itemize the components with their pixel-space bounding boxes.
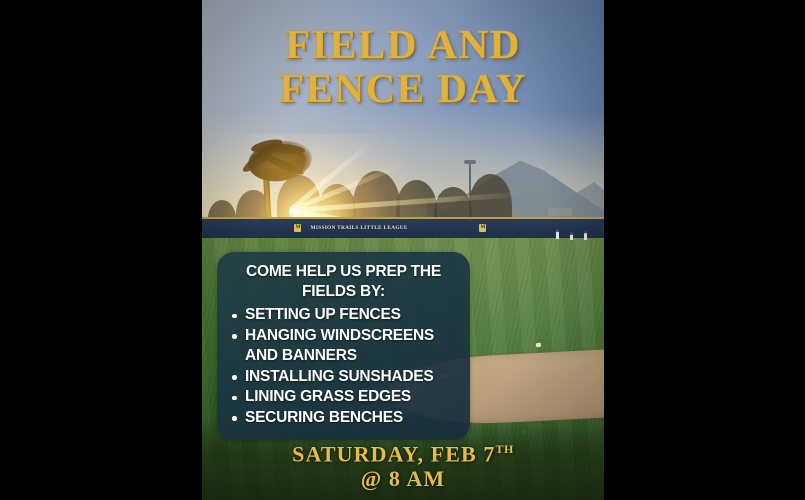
- poster-title: FIELD AND FENCE DAY: [202, 22, 604, 110]
- little-league-logo-right: M: [479, 224, 486, 232]
- info-card-heading-line-2: FIELDS BY:: [227, 282, 460, 302]
- event-time-line: @ 8 AM: [202, 466, 604, 491]
- base-bag: [535, 342, 541, 347]
- player-figure: [584, 233, 587, 240]
- event-date-line-1: SATURDAY, FEB 7TH: [202, 437, 604, 466]
- outfield-fence: M MISSION TRAILS LITTLE LEAGUE M: [202, 217, 604, 239]
- palm-frond: [261, 152, 305, 178]
- title-line-2: FENCE DAY: [202, 66, 604, 110]
- list-item: LINING GRASS EDGES: [227, 387, 460, 408]
- list-item: INSTALLING SUNSHADES: [227, 367, 460, 388]
- screenshot-stage: M MISSION TRAILS LITTLE LEAGUE M FIELD A…: [0, 0, 805, 500]
- info-card: COME HELP US PREP THE FIELDS BY: SETTING…: [217, 252, 470, 440]
- far-building: [548, 208, 572, 216]
- task-list: SETTING UP FENCES HANGING WINDSCREENS AN…: [227, 305, 460, 428]
- event-date-block: SATURDAY, FEB 7TH @ 8 AM: [202, 437, 604, 491]
- list-item: HANGING WINDSCREENS: [227, 326, 460, 347]
- fence-banner-text: MISSION TRAILS LITTLE LEAGUE: [311, 225, 408, 231]
- event-date-text: SATURDAY, FEB 7: [292, 441, 495, 466]
- little-league-logo-left: M: [294, 224, 301, 232]
- list-item: AND BANNERS: [227, 346, 460, 367]
- player-figure: [556, 231, 559, 239]
- fence-top-rail: [202, 217, 604, 219]
- list-item: SECURING BENCHES: [227, 408, 460, 429]
- event-date-ordinal: TH: [496, 442, 514, 456]
- title-line-1: FIELD AND: [202, 22, 604, 66]
- info-card-heading-line-1: COME HELP US PREP THE: [227, 262, 460, 282]
- list-item: SETTING UP FENCES: [227, 305, 460, 326]
- player-figure: [570, 234, 573, 240]
- flyer-poster: M MISSION TRAILS LITTLE LEAGUE M FIELD A…: [202, 0, 604, 500]
